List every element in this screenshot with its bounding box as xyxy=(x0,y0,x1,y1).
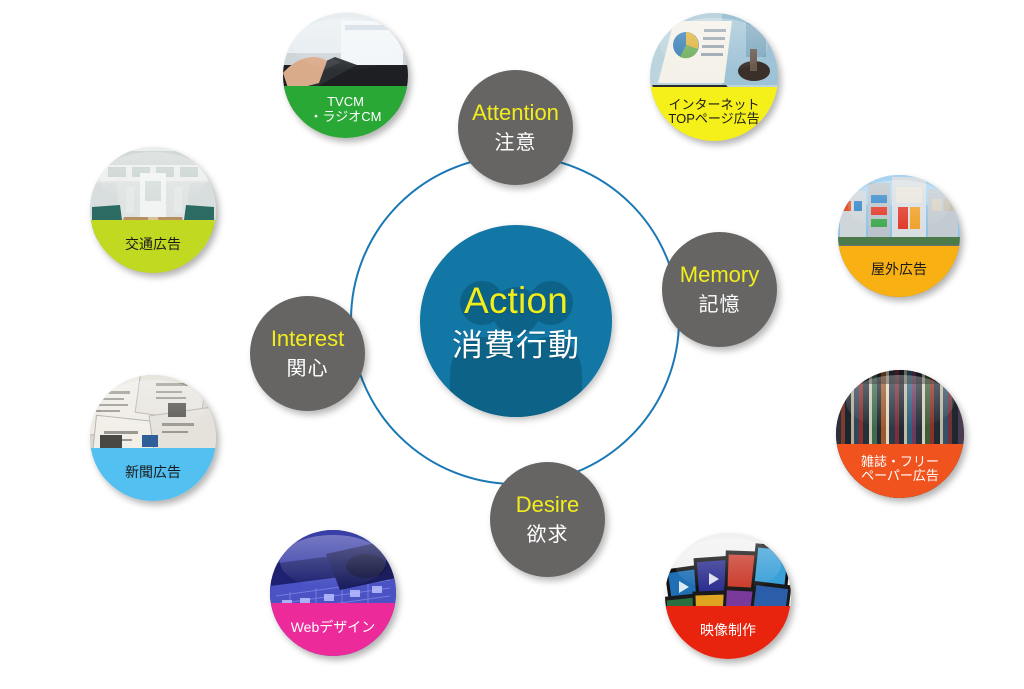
media-label-line1: 雑誌・フリー xyxy=(861,455,939,470)
media-node-tvcm-radiocm[interactable]: TVCM ・ラジオCM xyxy=(283,13,408,138)
media-node-newspaper-ad[interactable]: 新聞広告 xyxy=(90,375,216,501)
media-label-line1: Webデザイン xyxy=(291,620,376,636)
stage-node-interest[interactable]: Interest 関心 xyxy=(250,296,365,411)
stage-english-label: Desire xyxy=(516,494,580,516)
media-node-magazine-freepaper-ad[interactable]: 雑誌・フリー ペーパー広告 xyxy=(836,370,964,498)
action-hub[interactable]: Action 消費行動 xyxy=(420,225,612,417)
media-node-transit-ad[interactable]: 交通広告 xyxy=(90,147,216,273)
hub-japanese-label: 消費行動 xyxy=(452,330,580,361)
stage-japanese-label: 記憶 xyxy=(699,295,741,315)
media-label-line2: ・ラジオCM xyxy=(310,110,382,125)
stage-japanese-label: 欲求 xyxy=(527,525,569,545)
media-label-line1: 交通広告 xyxy=(125,237,181,253)
media-band-tvcm-radiocm: TVCM ・ラジオCM xyxy=(283,86,408,139)
media-band-magazine-freepaper-ad: 雑誌・フリー ペーパー広告 xyxy=(836,444,964,498)
media-band-outdoor-ad: 屋外広告 xyxy=(838,246,960,297)
crowd-silhouette-icon xyxy=(420,225,612,417)
stage-node-memory[interactable]: Memory 記憶 xyxy=(662,232,777,347)
media-label-line1: 映像制作 xyxy=(700,623,756,639)
media-band-transit-ad: 交通広告 xyxy=(90,220,216,273)
media-band-web-design: Webデザイン xyxy=(270,603,396,656)
media-node-internet-top-page[interactable]: インターネット TOPページ広告 xyxy=(650,13,778,141)
stage-english-label: Memory xyxy=(680,264,759,286)
stage-japanese-label: 注意 xyxy=(495,133,537,153)
hub-english-label: Action xyxy=(464,282,568,319)
stage-english-label: Interest xyxy=(271,328,344,350)
media-label-line1: 新聞広告 xyxy=(125,465,181,481)
media-label-line1: インターネット xyxy=(668,98,759,113)
media-band-video-production: 映像制作 xyxy=(665,606,791,659)
media-band-internet-top-page: インターネット TOPページ広告 xyxy=(650,87,778,141)
media-label-line2: TOPページ広告 xyxy=(668,112,759,127)
media-label-line2: ペーパー広告 xyxy=(861,469,939,484)
media-node-video-production[interactable]: 映像制作 xyxy=(665,533,791,659)
media-band-newspaper-ad: 新聞広告 xyxy=(90,448,216,501)
stage-japanese-label: 関心 xyxy=(287,359,329,379)
media-node-outdoor-ad[interactable]: 屋外広告 xyxy=(838,175,960,297)
media-node-web-design[interactable]: Webデザイン xyxy=(270,530,396,656)
media-label-line1: TVCM xyxy=(327,95,364,110)
stage-english-label: Attention xyxy=(472,102,559,124)
diagram-canvas: Action 消費行動 Attention 注意 Memory 記憶 Desir… xyxy=(0,0,1024,689)
media-label-line1: 屋外広告 xyxy=(871,262,927,278)
stage-node-desire[interactable]: Desire 欲求 xyxy=(490,462,605,577)
stage-node-attention[interactable]: Attention 注意 xyxy=(458,70,573,185)
